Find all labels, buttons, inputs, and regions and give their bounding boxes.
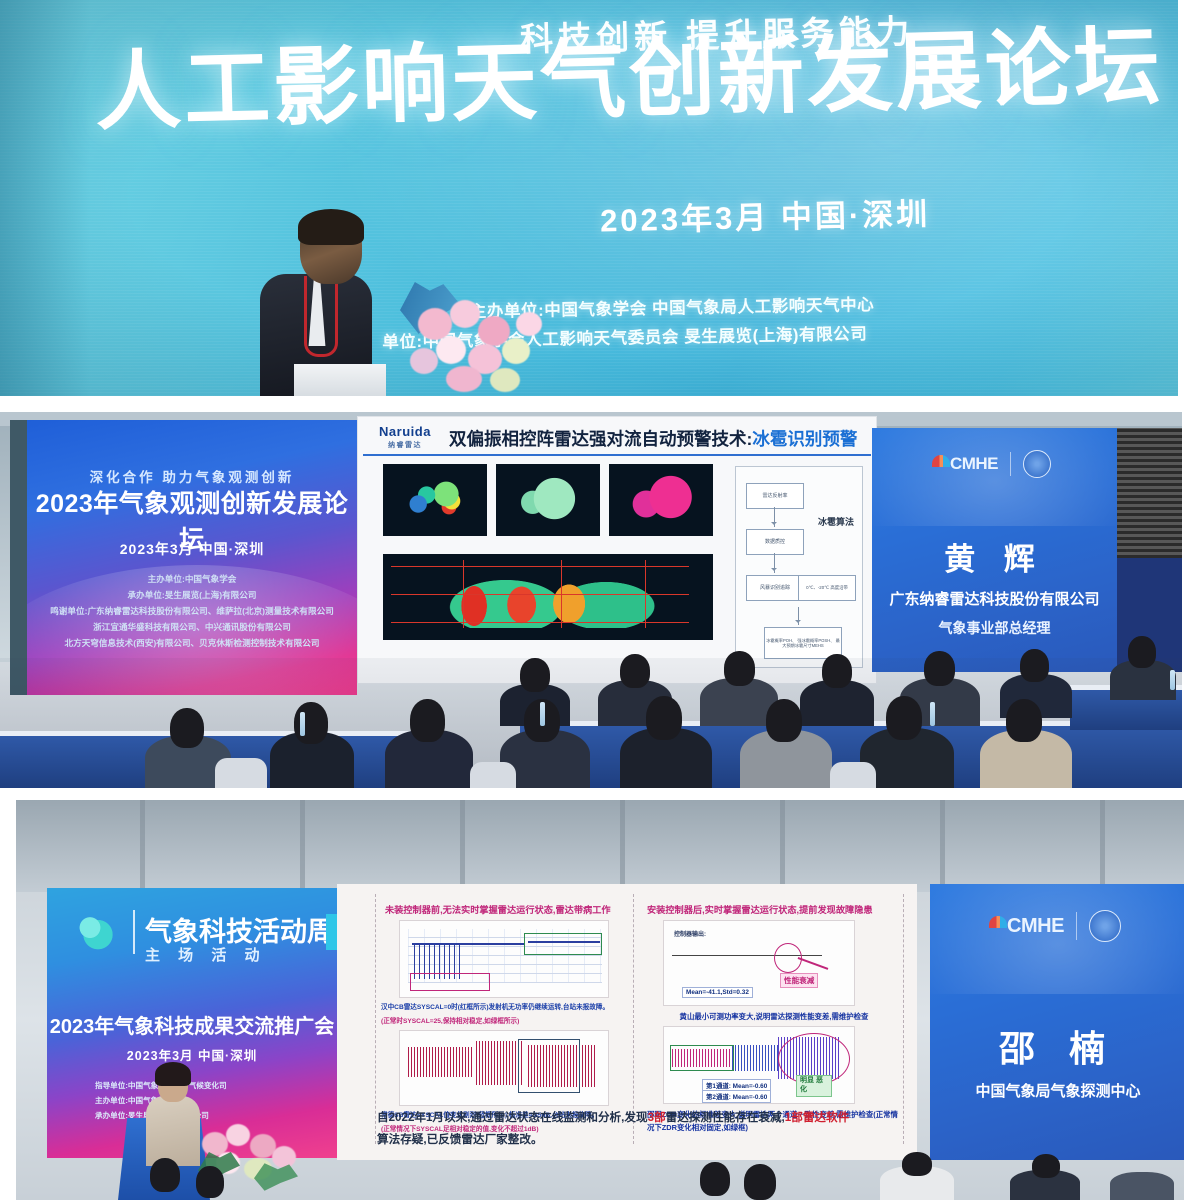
forum-led-slide: 深化合作 助力气象观测创新 2023年气象观测创新发展论坛 2023年3月 中国… xyxy=(27,420,357,695)
audience-head xyxy=(1006,699,1042,742)
logo-divider xyxy=(1076,912,1077,940)
series-noise xyxy=(732,1045,778,1071)
audience-head xyxy=(724,651,755,686)
flower xyxy=(446,366,482,392)
flower xyxy=(516,312,542,336)
naruida-logo-subtext: 纳睿雷达 xyxy=(367,440,443,450)
stage-left-pillar xyxy=(10,420,28,695)
audience-head xyxy=(620,654,650,688)
chart-zdr-variation: 明显 恶化 第1通道: Mean=-0.60 第2通道: Mean=-0.60 xyxy=(663,1026,855,1104)
audience-head xyxy=(924,651,955,686)
flower xyxy=(502,338,530,364)
flower xyxy=(450,300,480,328)
ceiling-beam xyxy=(780,800,785,892)
chart-caption-right-1: 黄山最小可测功率变大,说明雷达探测性能变差,需维护检查 xyxy=(649,1010,899,1023)
series-noise xyxy=(476,1041,522,1085)
chart-caption-1: 汉中CB雷达SYSCAL=0时(红框所示)发射机无功率仍继续运转,台站未报故障。 xyxy=(381,1002,631,1014)
flow-arrow xyxy=(774,507,775,527)
grid-line xyxy=(645,560,646,628)
slide-title-main: 双偏振相控阵雷达强对流自动预警技术: xyxy=(449,429,752,449)
audience-head xyxy=(700,1162,730,1196)
csms-seal-icon xyxy=(1023,450,1051,478)
foreground-audience xyxy=(0,1152,1200,1200)
audience-head xyxy=(1020,649,1049,682)
radar-image-cc: 偏振产品-CC xyxy=(609,464,713,536)
forum-slide-subtitle: 深化合作 助力气象观测创新 xyxy=(27,466,357,486)
blue-highlight-box xyxy=(518,1039,580,1093)
cmhe-logo: CMHE xyxy=(995,915,1064,938)
audience-table-top xyxy=(0,731,430,736)
event-title: 2023年气象科技成果交流推广会 xyxy=(47,1010,337,1039)
left-white-margin xyxy=(0,800,16,1200)
chart-caption-2: (正常时SYSCAL=25,保持相对稳定,如绿框所示) xyxy=(381,1016,631,1028)
flower xyxy=(436,336,466,364)
backdrop-left-shadow xyxy=(0,0,90,396)
summary-count-2: 1部雷达软件 xyxy=(785,1111,849,1124)
speaker-lanyard xyxy=(304,276,338,357)
right-white-margin xyxy=(1178,0,1200,396)
ceiling-beam xyxy=(300,800,305,892)
org-line: 鸣谢单位:广东纳睿雷达科技股份有限公司、维萨拉(北京)测量技术有限公司 xyxy=(37,604,347,620)
green-highlight-box xyxy=(670,1045,734,1071)
flow-box: 雷达反射率 xyxy=(746,483,804,509)
audience-head xyxy=(886,696,922,740)
water-bottle xyxy=(1170,670,1175,690)
speaker-name-board: CMHE 黄 辉 广东纳睿雷达科技股份有限公司 气象事业部总经理 xyxy=(872,428,1117,672)
chart-syscal-volatility xyxy=(399,1030,609,1106)
speaker-hair xyxy=(155,1062,191,1086)
speaker-hair xyxy=(298,209,364,245)
ceiling-beam xyxy=(1100,800,1105,892)
org-line: 浙江宜通华盛科技有限公司、中兴通讯股份有限公司 xyxy=(37,620,347,636)
ceiling-beam xyxy=(620,800,625,892)
audience-head xyxy=(170,708,204,748)
audience-chair xyxy=(215,758,267,788)
section-header-left: 未装控制器前,无法实时掌握雷达运行状态,雷达带病工作 xyxy=(385,902,611,916)
name-board-logos: CMHE xyxy=(872,450,1117,478)
event-brand-sub: 主 场 活 动 xyxy=(145,944,267,965)
chart-controller-output: 控制器输出: 性能衰减 Mean=-41.1,Std=0.32 xyxy=(663,920,855,1006)
audience-chair xyxy=(830,762,876,788)
ceiling-beam xyxy=(140,800,145,892)
water-bottle xyxy=(540,702,545,726)
annotation-label-change: 明显 恶化 xyxy=(796,1075,832,1097)
radar-cross-section xyxy=(383,554,713,640)
panel-observation-innovation-forum: 深化合作 助力气象观测创新 2023年气象观测创新发展论坛 2023年3月 中国… xyxy=(0,412,1200,788)
hail-algorithm-flowchart: 冰雹算法 雷达反射率 数据质控 风暴识别追踪 0℃、-20℃ 高度沿带 冰雹概率… xyxy=(735,466,863,668)
naruida-logo-text: Naruida xyxy=(367,424,443,439)
radar-image-intensity: 强度 xyxy=(383,464,487,536)
summary-middle: 雷达探测性能存在衰减, xyxy=(666,1111,785,1124)
grid-line xyxy=(463,560,464,628)
right-white-margin xyxy=(1184,800,1200,1200)
org-line: 承办单位:旻生展览(上海)有限公司 xyxy=(37,588,347,604)
audience-head xyxy=(822,654,852,688)
slide-title-rule xyxy=(363,454,871,456)
accent-tab xyxy=(326,914,337,950)
speaker-name: 黄 辉 xyxy=(872,534,1117,579)
slide-title-accent: 冰雹识别预警 xyxy=(752,429,857,449)
right-white-margin xyxy=(1182,412,1200,788)
flower xyxy=(226,1124,250,1146)
logo-divider xyxy=(1010,452,1011,476)
column-divider xyxy=(375,894,376,1144)
audience-head xyxy=(766,699,802,742)
speaker-figure xyxy=(258,212,378,396)
flowchart-label: 冰雹算法 xyxy=(818,515,854,528)
ceiling-beam xyxy=(460,800,465,892)
audience-person xyxy=(1110,1172,1174,1200)
presentation-screen: Naruida 纳睿雷达 双偏振相控阵雷达强对流自动预警技术:冰雹识别预警 强度… xyxy=(357,416,877,684)
audience-head xyxy=(520,658,550,692)
column-divider xyxy=(903,894,904,1144)
stat-box: Mean=-41.1,Std=0.32 xyxy=(682,987,753,998)
name-board-logos: CMHE xyxy=(930,910,1186,942)
speaker-name: 邵 楠 xyxy=(930,1020,1186,1072)
ceiling-structure xyxy=(0,800,1200,892)
audience-head xyxy=(902,1152,932,1176)
cloud-logo-icon xyxy=(69,910,119,954)
flow-box: 数据质控 xyxy=(746,529,804,555)
floral-arrangement xyxy=(390,278,580,396)
water-bottle xyxy=(930,702,935,726)
speaker-affiliation: 中国气象局气象探测中心 xyxy=(930,1080,1186,1101)
annotation-arrow xyxy=(798,957,829,969)
summary-count-1: 3部 xyxy=(648,1111,666,1124)
csms-seal-icon xyxy=(1089,910,1121,942)
flow-box: 0℃、-20℃ 高度沿带 xyxy=(798,575,856,601)
summary-suffix: 算法存疑,已反馈雷达厂家整改。 xyxy=(377,1133,543,1146)
flower xyxy=(490,368,520,392)
audience-head xyxy=(196,1166,224,1198)
mean-box-2: 第2通道: Mean=-0.60 xyxy=(702,1090,771,1103)
speaker-affiliation: 广东纳睿雷达科技股份有限公司 xyxy=(872,588,1117,609)
flow-box: 风暴识别追踪 xyxy=(746,575,804,601)
presentation-summary: 自2022年1月以来,通过雷达状态在线监测和分析,发现3部雷达探测性能存在衰减,… xyxy=(377,1107,903,1150)
series-noise xyxy=(408,1047,472,1077)
forum-slide-organizers: 主办单位:中国气象学会 承办单位:旻生展览(上海)有限公司 鸣谢单位:广东纳睿雷… xyxy=(37,572,347,651)
backdrop-date-location: 2023年3月 中国·深圳 xyxy=(600,189,931,241)
flower xyxy=(410,348,438,374)
logo-divider xyxy=(133,910,135,954)
speaker-name-board: CMHE 邵 楠 中国气象局气象探测中心 xyxy=(930,884,1186,1160)
annotation-label-decay: 性能衰减 xyxy=(780,973,818,988)
radar-image-zdr: 偏振产品-ZDR xyxy=(496,464,600,536)
flower xyxy=(418,308,452,340)
audience-head xyxy=(1032,1154,1060,1178)
flow-arrow xyxy=(774,553,775,573)
panel-science-week-main-event: 气象科技活动周 主 场 活 动 2023年气象科技成果交流推广会 2023年3月… xyxy=(0,800,1200,1200)
water-bottle xyxy=(300,712,305,736)
cmhe-logo: CMHE xyxy=(938,454,998,474)
org-line: 北方天穹信息技术(西安)有限公司、贝克休斯检测控制技术有限公司 xyxy=(37,636,347,652)
chart-syscal-line xyxy=(399,920,609,998)
radar-status-presentation: 未装控制器前,无法实时掌握雷达运行状态,雷达带病工作 安装控制器后,实时掌握雷达… xyxy=(337,884,917,1160)
chart-inner-label: 控制器输出: xyxy=(674,929,706,938)
audience-head xyxy=(1128,636,1156,668)
section-header-right: 安装控制器后,实时掌握雷达运行状态,提前发现故障隐患 xyxy=(647,902,873,916)
org-line: 主办单位:中国气象学会 xyxy=(37,572,347,588)
audience-head xyxy=(744,1164,776,1200)
audience-head xyxy=(150,1158,180,1192)
photo-composite: 科技创新 提升服务能力 人工影响天气创新发展论坛 2023年3月 中国·深圳 主… xyxy=(0,0,1200,1200)
forum-slide-date: 2023年3月 中国·深圳 xyxy=(27,539,357,559)
slide-title: 双偏振相控阵雷达强对流自动预警技术:冰雹识别预警 xyxy=(449,426,871,451)
ceiling-beam xyxy=(940,800,945,892)
audience-head xyxy=(646,696,682,740)
red-highlight-box xyxy=(410,973,490,991)
flow-arrow xyxy=(798,607,799,625)
panel-weather-modification-forum: 科技创新 提升服务能力 人工影响天气创新发展论坛 2023年3月 中国·深圳 主… xyxy=(0,0,1200,396)
grid-line xyxy=(561,560,562,628)
summary-prefix: 自2022年1月以来,通过雷达状态在线监测和分析,发现 xyxy=(377,1111,648,1124)
speaker-title: 气象事业部总经理 xyxy=(872,618,1117,638)
speaker-podium xyxy=(294,364,386,396)
green-highlight-box xyxy=(524,933,602,955)
naruida-logo: Naruida 纳睿雷达 xyxy=(367,424,443,450)
audience-chair xyxy=(470,762,516,788)
audience-head xyxy=(410,699,445,742)
radar-image-row: 强度 偏振产品-ZDR 偏振产品-CC xyxy=(383,464,713,536)
